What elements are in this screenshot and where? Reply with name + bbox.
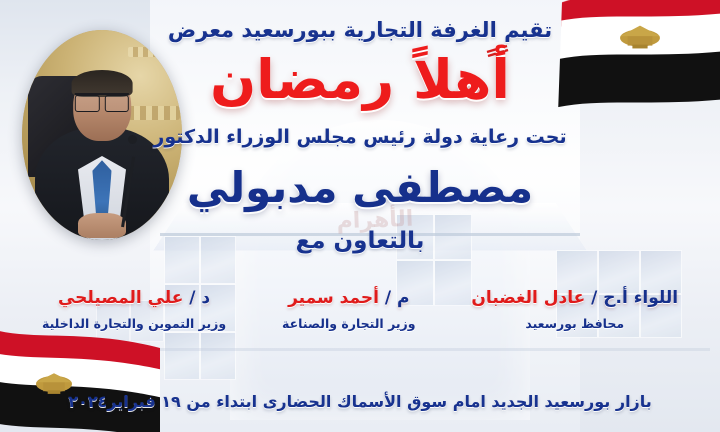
patronage-line: تحت رعاية دولة رئيس مجلس الوزراء الدكتور <box>0 126 720 148</box>
official-entry: اللواء أ.ح / عادل الغضبان محافظ بورسعيد <box>471 288 678 331</box>
official-entry: م / أحمد سمير وزير التجارة والصناعة <box>282 288 415 331</box>
official-name-line: م / أحمد سمير <box>282 288 415 308</box>
official-title: وزير التموين والتجارة الداخلية <box>42 316 226 331</box>
official-name: علي المصيلحي <box>58 288 183 308</box>
patron-name: مصطفى مدبولي <box>0 163 720 212</box>
official-name: عادل الغضبان <box>471 288 585 308</box>
official-honorific: اللواء أ.ح / <box>591 288 678 308</box>
official-name-line: اللواء أ.ح / عادل الغضبان <box>471 288 678 308</box>
venue-date-line: بازار بورسعيد الجديد امام سوق الأسماك ال… <box>0 392 720 411</box>
cooperation-label: بالتعاون مع <box>0 228 720 254</box>
official-name: أحمد سمير <box>288 288 379 308</box>
official-name-line: د / علي المصيلحي <box>42 288 226 308</box>
official-honorific: د / <box>189 288 210 308</box>
official-title: محافظ بورسعيد <box>471 316 678 331</box>
official-honorific: م / <box>385 288 410 308</box>
official-title: وزير التجارة والصناعة <box>282 316 415 331</box>
event-poster: الأهرام <box>0 0 720 432</box>
official-entry: د / علي المصيلحي وزير التموين والتجارة ا… <box>42 288 226 331</box>
chamber-header-line: تقيم الغرفة التجارية ببورسعيد معرض <box>0 18 720 42</box>
poster-headline: أهلاً رمضان <box>0 52 720 109</box>
officials-row: اللواء أ.ح / عادل الغضبان محافظ بورسعيد … <box>0 288 720 360</box>
